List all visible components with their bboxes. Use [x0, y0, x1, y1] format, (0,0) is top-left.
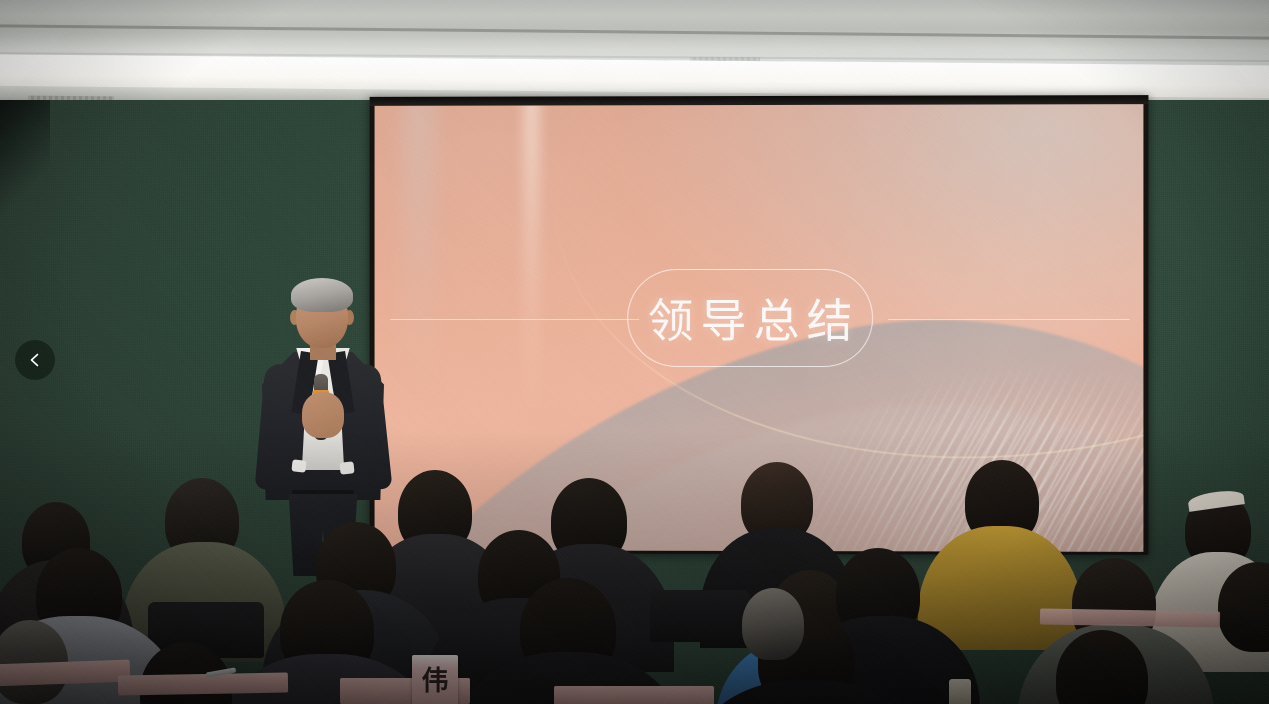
projector-light-streak — [402, 104, 436, 395]
slide-title-pill: 领导总结 — [627, 269, 873, 367]
previous-image-button[interactable] — [15, 340, 55, 380]
audience-head — [742, 588, 804, 660]
name-plate: 伟 — [412, 655, 458, 704]
conference-table — [1040, 608, 1220, 627]
wall-corner-shadow — [0, 100, 50, 220]
audience-shoulders — [918, 526, 1082, 650]
screenshot-root: 领导总结 — [0, 0, 1269, 704]
presenter-hair — [291, 278, 353, 312]
chevron-left-icon — [26, 351, 44, 369]
conference-table — [554, 686, 714, 704]
slide-title: 领导总结 — [641, 285, 860, 351]
water-bottle — [949, 679, 971, 704]
chair-back — [650, 590, 750, 642]
projector-light-streak — [524, 104, 540, 425]
name-plate-text: 伟 — [422, 668, 449, 695]
audience: 伟 — [0, 430, 1269, 704]
conference-table — [118, 673, 288, 696]
slide-rule-right — [888, 319, 1129, 320]
ceiling-seam — [0, 24, 1269, 40]
slide-rule-left — [390, 319, 639, 320]
